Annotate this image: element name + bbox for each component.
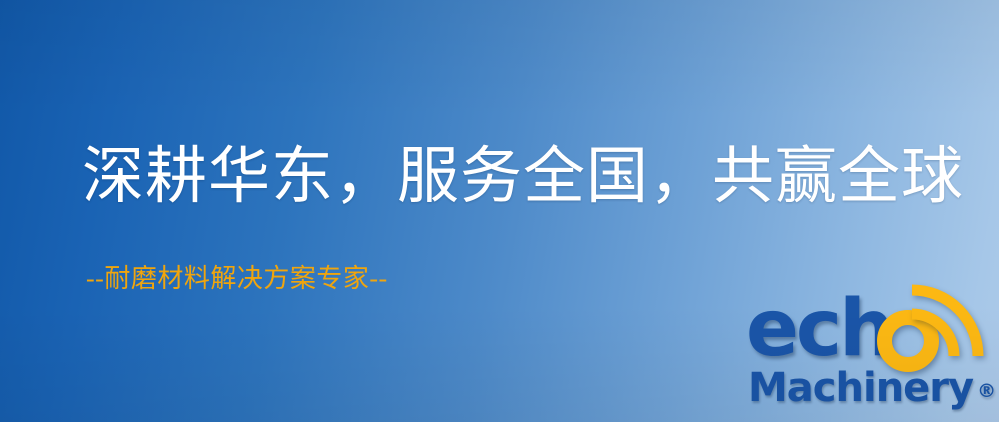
logo-tagline: Machinery® xyxy=(748,368,996,408)
promotional-banner: 深耕华东，服务全国，共赢全球 --耐磨材料解决方案专家-- ech Machin… xyxy=(0,0,999,422)
logo-wordmark: ech xyxy=(744,296,996,374)
company-logo: ech Machinery® xyxy=(744,296,996,418)
banner-headline: 深耕华东，服务全国，共赢全球 xyxy=(82,146,964,208)
banner-subtitle: --耐磨材料解决方案专家-- xyxy=(86,266,388,292)
signal-waves-icon xyxy=(920,290,999,368)
registered-trademark-icon: ® xyxy=(977,380,996,402)
logo-echo-text: ech xyxy=(746,290,892,368)
logo-tagline-text: Machinery xyxy=(748,365,973,411)
